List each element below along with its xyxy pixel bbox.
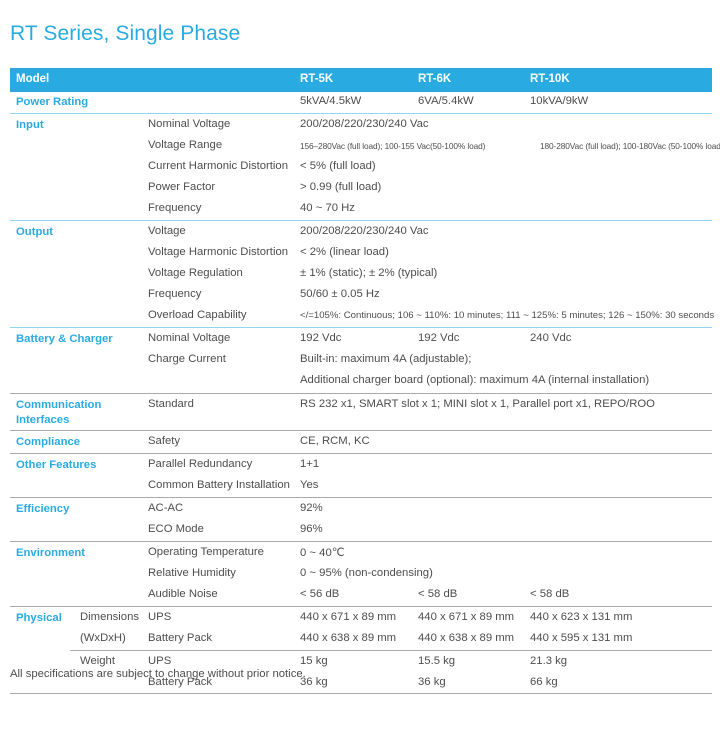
- common-battery-installation-value: Yes: [300, 479, 318, 491]
- table-row: Relative Humidity 0 ~ 95% (non-condensin…: [10, 564, 712, 585]
- table-row: Standard RS 232 x1, SMART slot x 1; MINI…: [10, 395, 712, 416]
- table-row: Overload Capability </=105%: Continuous;…: [10, 306, 712, 327]
- weight-ups-rt6k: 15.5 kg: [418, 655, 455, 667]
- output-voltage-value: 200/208/220/230/240 Vac: [300, 225, 429, 237]
- table-row: Voltage Regulation ± 1% (static); ± 2% (…: [10, 264, 712, 285]
- input-voltage-range-value-rt10k: 180-280Vac (full load); 100-180Vac (50-1…: [540, 141, 720, 151]
- header-rt-5k: RT-5K: [300, 73, 333, 85]
- row-label-output-frequency: Frequency: [148, 288, 201, 300]
- row-label-parallel-redundancy: Parallel Redundancy: [148, 458, 252, 470]
- row-label-voltage-range: Voltage Range: [148, 139, 222, 151]
- table-row: Safety CE, RCM, KC: [10, 432, 712, 453]
- section-battery-charger: Battery & Charger Nominal Voltage 192 Vd…: [10, 328, 712, 394]
- row-label-dimensions-ups: UPS: [148, 611, 171, 623]
- row-label-battery-nominal-voltage: Nominal Voltage: [148, 332, 230, 344]
- section-environment: Environment Operating Temperature 0 ~ 40…: [10, 542, 712, 607]
- table-row: Voltage Range 156–280Vac (full load); 10…: [10, 136, 712, 157]
- table-row: Dimensions UPS 440 x 671 x 89 mm 440 x 6…: [10, 608, 712, 629]
- row-label-operating-temperature: Operating Temperature: [148, 546, 264, 558]
- group-label-dimensions-line2: (WxDxH): [80, 632, 126, 644]
- section-power-rating: Power Rating 5kVA/4.5kW 6VA/5.4kW 10kVA/…: [10, 92, 712, 114]
- row-label-current-harmonic-distortion: Current Harmonic Distortion: [148, 160, 288, 172]
- table-row: Power Factor > 0.99 (full load): [10, 178, 712, 199]
- input-voltage-range-value: 156–280Vac (full load); 100-155 Vac(50-1…: [300, 141, 485, 151]
- battery-nominal-voltage-rt6k: 192 Vdc: [418, 332, 459, 344]
- table-row: Additional charger board (optional): max…: [10, 371, 712, 392]
- row-label-common-battery-installation: Common Battery Installation: [148, 479, 290, 491]
- input-current-harmonic-distortion-value: < 5% (full load): [300, 160, 376, 172]
- audible-noise-rt10k: < 58 dB: [530, 588, 569, 600]
- group-label-dimensions-line1: Dimensions: [80, 611, 139, 623]
- table-row: Nominal Voltage 192 Vdc 192 Vdc 240 Vdc: [10, 329, 712, 350]
- dimensions-battery-rt6k: 440 x 638 x 89 mm: [418, 632, 514, 644]
- footnote: All specifications are subject to change…: [10, 668, 306, 680]
- row-label-ac-ac: AC-AC: [148, 502, 183, 514]
- row-label-nominal-voltage: Nominal Voltage: [148, 118, 230, 130]
- dimensions-battery-rt10k: 440 x 595 x 131 mm: [530, 632, 632, 644]
- row-label-standard: Standard: [148, 398, 194, 410]
- row-label-voltage-regulation: Voltage Regulation: [148, 267, 243, 279]
- row-label-voltage-harmonic-distortion: Voltage Harmonic Distortion: [148, 246, 288, 258]
- battery-nominal-voltage-rt10k: 240 Vdc: [530, 332, 571, 344]
- power-rating-rt6k: 6VA/5.4kW: [418, 95, 474, 107]
- table-row: Charge Current Built-in: maximum 4A (adj…: [10, 350, 712, 371]
- relative-humidity-value: 0 ~ 95% (non-condensing): [300, 567, 433, 579]
- dimensions-ups-rt6k: 440 x 671 x 89 mm: [418, 611, 514, 623]
- dimensions-ups-rt5k: 440 x 671 x 89 mm: [300, 611, 396, 623]
- power-rating-rt5k: 5kVA/4.5kW: [300, 95, 361, 107]
- output-voltage-harmonic-distortion-value: < 2% (linear load): [300, 246, 389, 258]
- section-compliance: Compliance Safety CE, RCM, KC: [10, 431, 712, 454]
- dimensions-ups-rt10k: 440 x 623 x 131 mm: [530, 611, 632, 623]
- table-header-row: Model RT-5K RT-6K RT-10K: [10, 68, 712, 92]
- weight-ups-rt10k: 21.3 kg: [530, 655, 567, 667]
- row-label-safety: Safety: [148, 435, 180, 447]
- section-output: Output Voltage 200/208/220/230/240 Vac V…: [10, 221, 712, 328]
- row-label-output-voltage: Voltage: [148, 225, 186, 237]
- table-row: Current Harmonic Distortion < 5% (full l…: [10, 157, 712, 178]
- table-row: 5kVA/4.5kW 6VA/5.4kW 10kVA/9kW: [10, 92, 712, 113]
- table-row: Frequency 40 ~ 70 Hz: [10, 199, 712, 220]
- section-other-features: Other Features Parallel Redundancy 1+1 C…: [10, 454, 712, 498]
- output-overload-capability-value: </=105%: Continuous; 106 ~ 110%: 10 minu…: [300, 310, 714, 321]
- row-label-audible-noise: Audible Noise: [148, 588, 218, 600]
- table-row: ECO Mode 96%: [10, 520, 712, 541]
- table-row: (WxDxH) Battery Pack 440 x 638 x 89 mm 4…: [10, 629, 712, 650]
- section-physical: Physical Dimensions UPS 440 x 671 x 89 m…: [10, 607, 712, 694]
- group-label-weight: Weight: [80, 655, 115, 667]
- row-label-charge-current: Charge Current: [148, 353, 226, 365]
- header-rt-6k: RT-6K: [418, 73, 451, 85]
- input-nominal-voltage-value: 200/208/220/230/240 Vac: [300, 118, 429, 130]
- table-row: Common Battery Installation Yes: [10, 476, 712, 497]
- row-label-input-frequency: Frequency: [148, 202, 201, 214]
- section-efficiency: Efficiency AC-AC 92% ECO Mode 96%: [10, 498, 712, 542]
- dimensions-battery-rt5k: 440 x 638 x 89 mm: [300, 632, 396, 644]
- output-frequency-value: 50/60 ± 0.05 Hz: [300, 288, 380, 300]
- weight-battery-rt10k: 66 kg: [530, 676, 558, 688]
- charge-current-line1: Built-in: maximum 4A (adjustable);: [300, 353, 471, 365]
- section-input: Input Nominal Voltage 200/208/220/230/24…: [10, 114, 712, 221]
- charge-current-line2: Additional charger board (optional): max…: [300, 374, 649, 386]
- section-communication-interfaces: Communication Interfaces Standard RS 232…: [10, 394, 712, 431]
- efficiency-eco-mode-value: 96%: [300, 523, 323, 535]
- audible-noise-rt5k: < 56 dB: [300, 588, 339, 600]
- table-row: Voltage 200/208/220/230/240 Vac: [10, 222, 712, 243]
- weight-battery-rt6k: 36 kg: [418, 676, 446, 688]
- row-label-relative-humidity: Relative Humidity: [148, 567, 236, 579]
- table-row: Parallel Redundancy 1+1: [10, 455, 712, 476]
- table-row: Voltage Harmonic Distortion < 2% (linear…: [10, 243, 712, 264]
- table-row: Operating Temperature 0 ~ 40℃: [10, 543, 712, 564]
- header-rt-10k: RT-10K: [530, 73, 570, 85]
- row-label-dimensions-battery-pack: Battery Pack: [148, 632, 212, 644]
- row-label-weight-ups: UPS: [148, 655, 171, 667]
- input-power-factor-value: > 0.99 (full load): [300, 181, 381, 193]
- row-label-power-factor: Power Factor: [148, 181, 215, 193]
- table-row: Frequency 50/60 ± 0.05 Hz: [10, 285, 712, 306]
- parallel-redundancy-value: 1+1: [300, 458, 319, 470]
- row-label-overload-capability: Overload Capability: [148, 309, 247, 321]
- specifications-table: Model RT-5K RT-6K RT-10K Power Rating 5k…: [10, 68, 712, 694]
- input-frequency-value: 40 ~ 70 Hz: [300, 202, 355, 214]
- output-voltage-regulation-value: ± 1% (static); ± 2% (typical): [300, 267, 437, 279]
- efficiency-ac-ac-value: 92%: [300, 502, 323, 514]
- communication-standard-value: RS 232 x1, SMART slot x 1; MINI slot x 1…: [300, 398, 655, 410]
- table-row: AC-AC 92%: [10, 499, 712, 520]
- table-row: Nominal Voltage 200/208/220/230/240 Vac: [10, 115, 712, 136]
- weight-ups-rt5k: 15 kg: [300, 655, 328, 667]
- physical-group-divider: [70, 650, 712, 651]
- row-label-eco-mode: ECO Mode: [148, 523, 204, 535]
- page-title: RT Series, Single Phase: [10, 22, 240, 46]
- spec-sheet-page: RT Series, Single Phase Model RT-5K RT-6…: [0, 0, 720, 730]
- header-model: Model: [16, 73, 49, 85]
- operating-temperature-value: 0 ~ 40℃: [300, 546, 344, 559]
- power-rating-rt10k: 10kVA/9kW: [530, 95, 588, 107]
- compliance-safety-value: CE, RCM, KC: [300, 435, 370, 447]
- battery-nominal-voltage-rt5k: 192 Vdc: [300, 332, 341, 344]
- table-row: Audible Noise < 56 dB < 58 dB < 58 dB: [10, 585, 712, 606]
- audible-noise-rt6k: < 58 dB: [418, 588, 457, 600]
